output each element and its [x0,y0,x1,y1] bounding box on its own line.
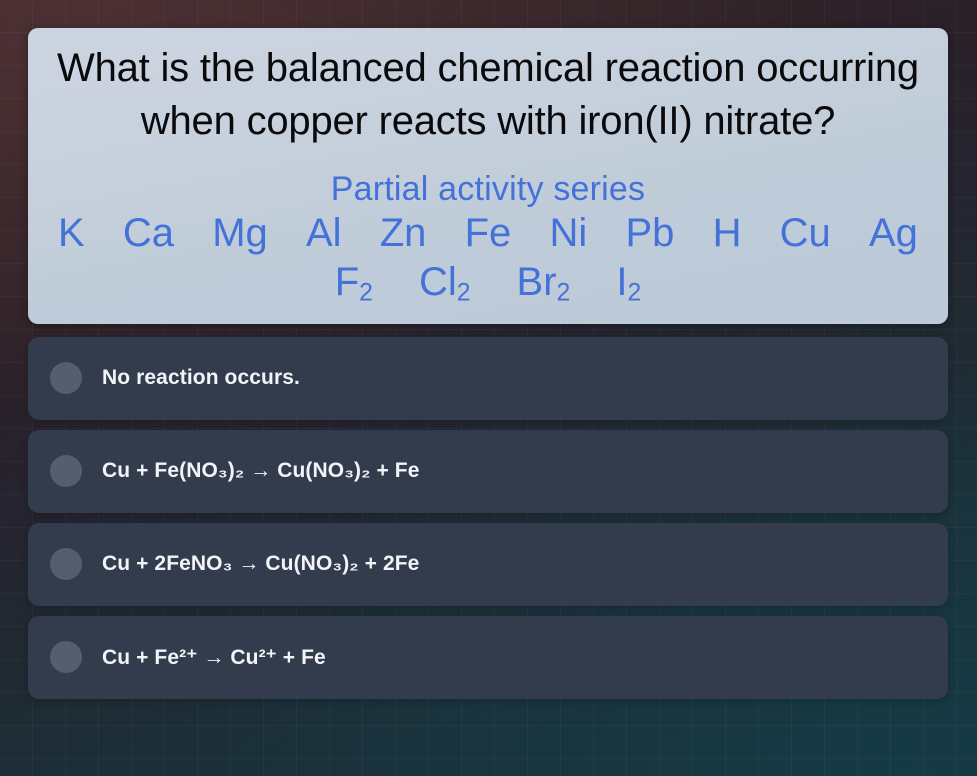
quiz-page: What is the balanced chemical reaction o… [0,0,977,776]
series-metal: Ni [549,210,587,257]
answer-option-1[interactable]: No reaction occurs. [28,337,948,420]
answer-option-3[interactable]: Cu + 2FeNO₃ → Cu(NO₃)₂ + 2Fe [28,523,948,606]
answer-options-list: No reaction occurs. Cu + Fe(NO₃)₂ → Cu(N… [28,337,949,699]
series-metal: Pb [625,210,674,257]
series-halogen: Cl2 [419,259,471,308]
answer-option-label: Cu + 2FeNO₃ → Cu(NO₃)₂ + 2Fe [102,552,419,576]
activity-series-reference: Partial activity series K Ca Mg Al Zn Fe… [46,170,930,308]
series-metal: H [713,210,742,257]
series-halogen-symbol: Br [517,260,557,304]
series-halogen-symbol: I [616,260,627,304]
answer-option-label: Cu + Fe²⁺ → Cu²⁺ + Fe [102,645,326,670]
series-halogen: Br2 [517,259,571,308]
series-halogen-symbol: Cl [419,260,457,304]
series-halogen-subscript: 2 [359,279,373,306]
series-metal: Al [306,210,342,257]
series-halogen: I2 [616,259,641,308]
series-metal: Zn [380,210,427,257]
radio-button-icon[interactable] [50,362,82,394]
series-halogen: F2 [335,259,373,308]
series-metal: Fe [465,210,512,257]
answer-option-label: No reaction occurs. [102,366,300,390]
radio-button-icon[interactable] [50,455,82,487]
series-halogen-symbol: F [335,260,359,304]
radio-button-icon[interactable] [50,548,82,580]
answer-option-2[interactable]: Cu + Fe(NO₃)₂ → Cu(NO₃)₂ + Fe [28,430,948,513]
series-halogen-subscript: 2 [627,279,641,306]
question-text: What is the balanced chemical reaction o… [46,42,930,148]
answer-option-label: Cu + Fe(NO₃)₂ → Cu(NO₃)₂ + Fe [102,459,420,483]
series-metal: Mg [212,210,268,257]
series-halogen-subscript: 2 [557,279,571,306]
question-card: What is the balanced chemical reaction o… [28,28,948,324]
activity-series-title: Partial activity series [46,170,930,208]
series-metal: Cu [780,210,831,257]
answer-option-4[interactable]: Cu + Fe²⁺ → Cu²⁺ + Fe [28,616,948,699]
series-metal: Ag [869,210,918,257]
series-halogen-subscript: 2 [457,279,471,306]
radio-button-icon[interactable] [50,641,82,673]
activity-series-metals-row: K Ca Mg Al Zn Fe Ni Pb H Cu Ag [46,208,930,257]
series-metal: Ca [123,210,174,257]
activity-series-halogens-row: F2 Cl2 Br2 I2 [46,257,930,308]
series-metal: K [58,210,85,257]
